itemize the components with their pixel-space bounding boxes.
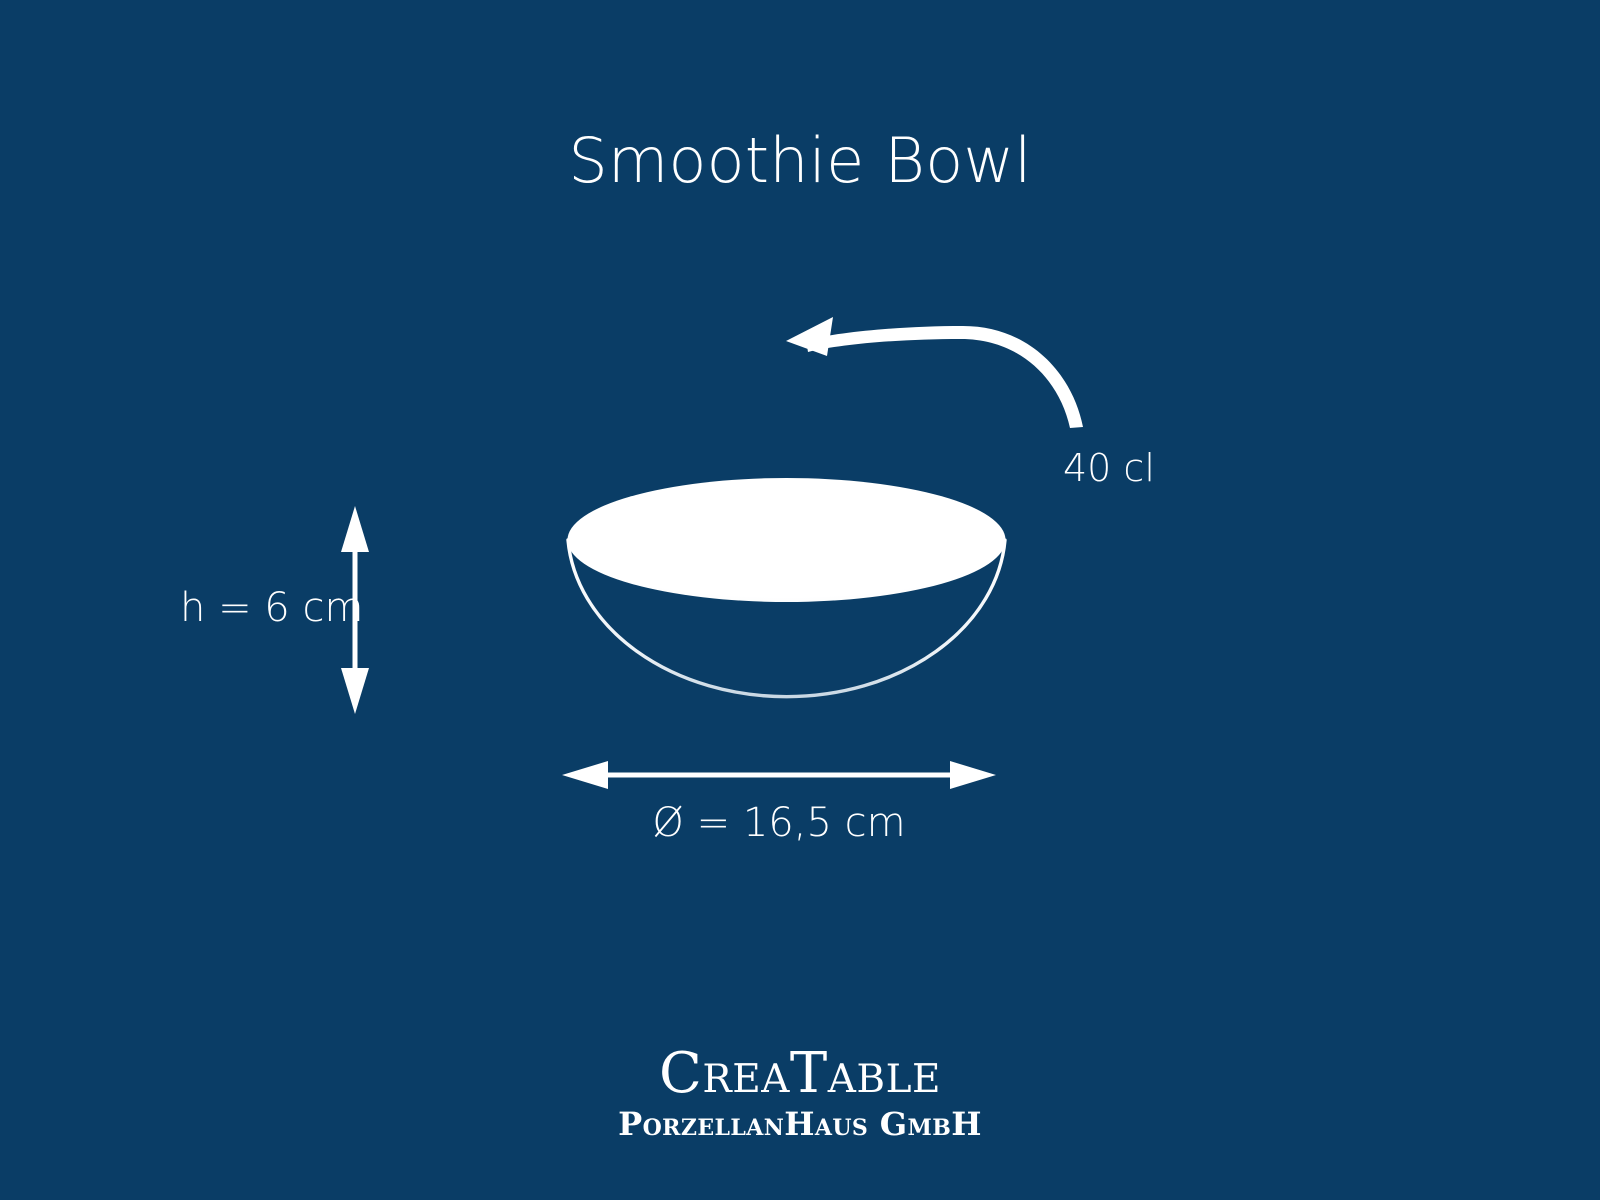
volume-arrow-curve (806, 326, 1083, 428)
bowl-rim-disc (568, 478, 1006, 602)
volume-callout-arrow (786, 317, 1083, 428)
bowl-illustration (568, 478, 1006, 697)
diameter-dimension-arrow (562, 761, 996, 789)
brand-logo: CreaTable PorzellanHaus GmbH (0, 1046, 1600, 1140)
diameter-label: Ø = 16,5 cm (0, 803, 1600, 843)
height-label: h = 6 cm (180, 588, 363, 628)
brand-name: CreaTable (0, 1046, 1600, 1102)
brand-subtitle: PorzellanHaus GmbH (0, 1108, 1600, 1140)
product-spec-sheet: Smoothie Bowl (0, 0, 1600, 1200)
volume-label: 40 cl (1063, 449, 1155, 487)
